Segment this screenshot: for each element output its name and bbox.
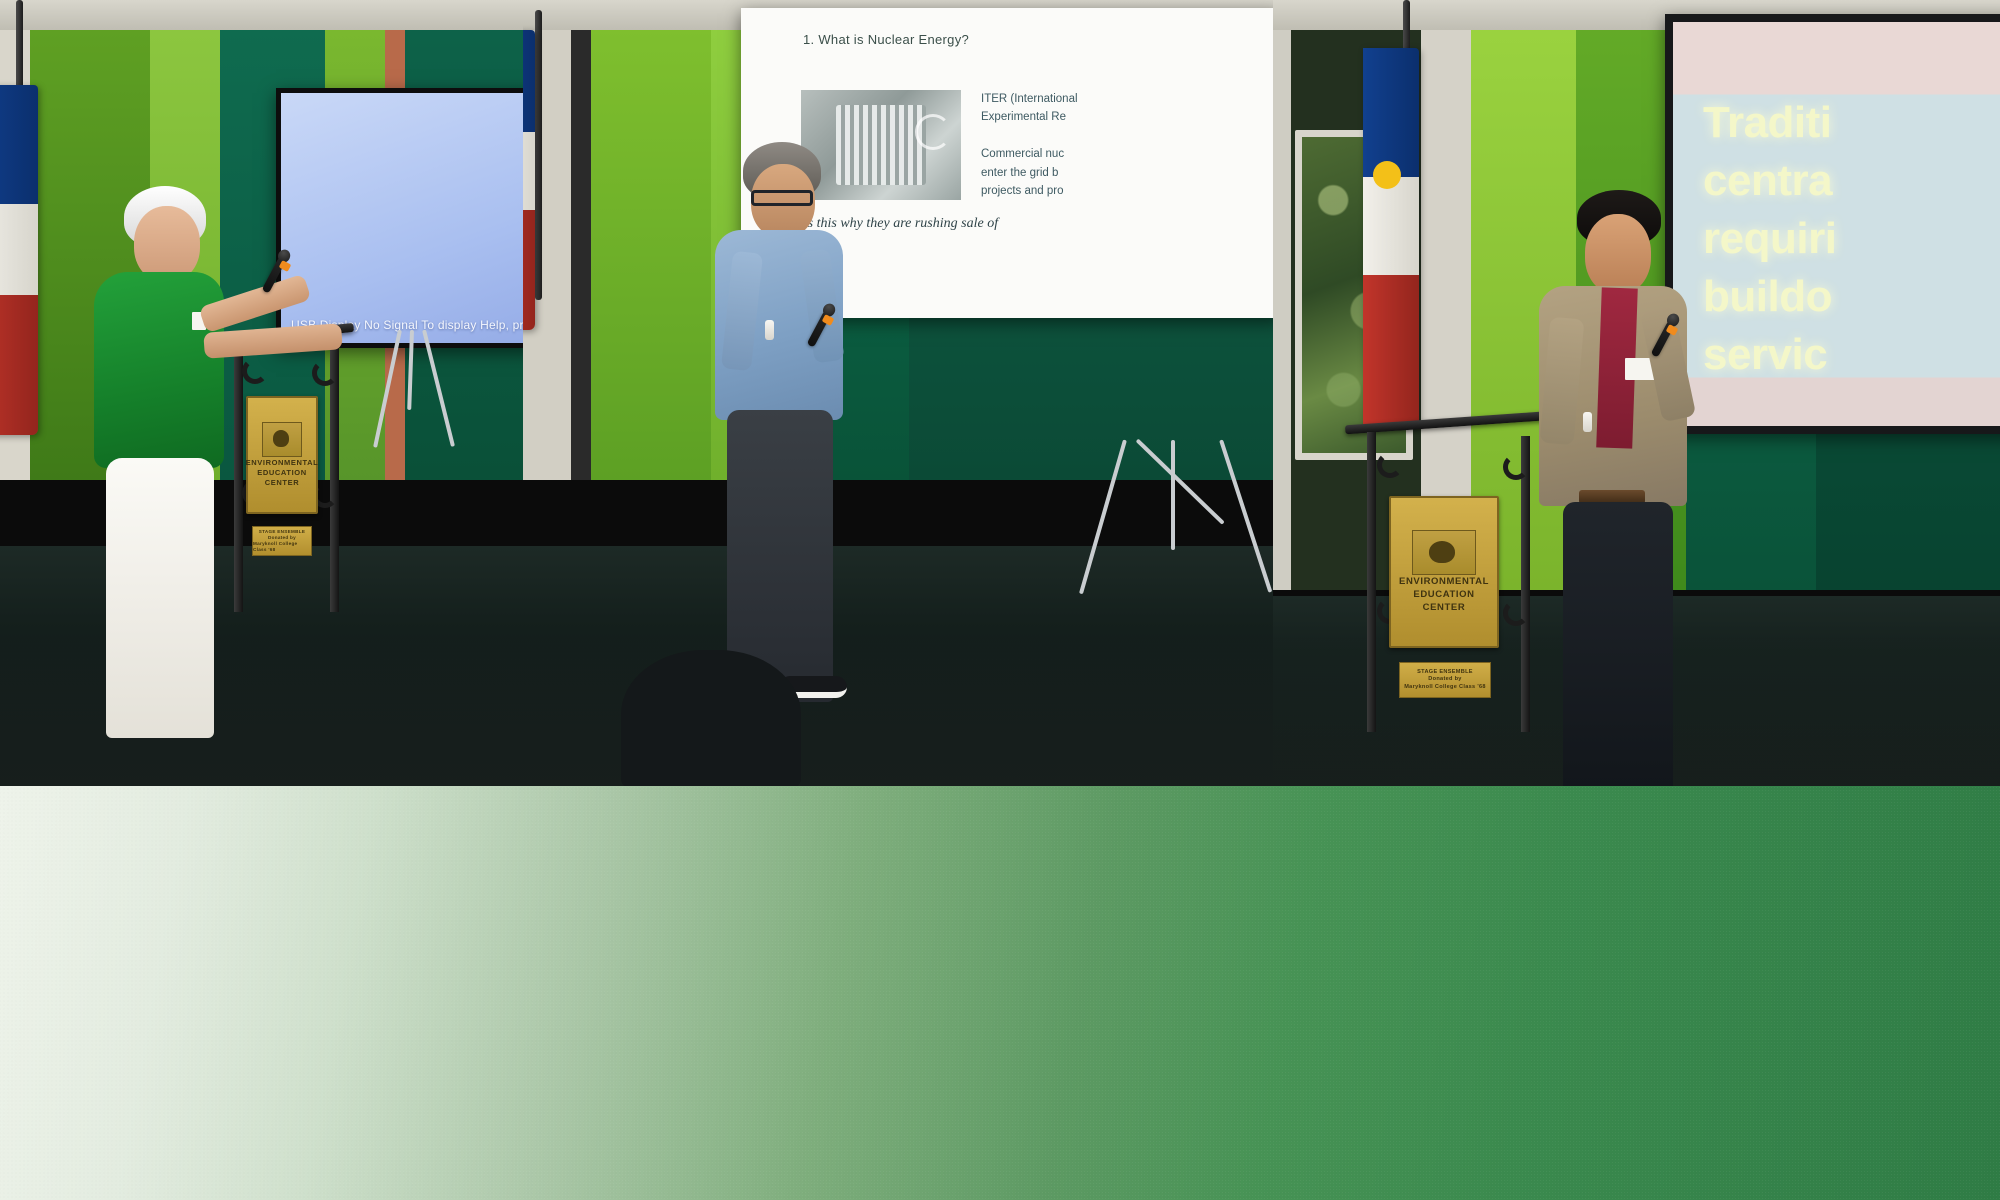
wall-stripe: [571, 30, 591, 480]
wall-stripe: [1273, 30, 1291, 590]
slide-text: Traditi centra requiri buildo servic: [1703, 94, 2000, 384]
plaque-line-1: ENVIRONMENTAL: [246, 458, 319, 467]
projector-screen-1: USB Display No Signal To display Help, p…: [276, 88, 523, 348]
wall-stripe: [591, 30, 711, 480]
podium-plaque: ENVIRONMENTAL EDUCATION CENTER: [246, 396, 318, 514]
video-strip: USB Display No Signal To display Help, p…: [0, 0, 2000, 786]
plaque-emblem: [262, 422, 303, 456]
video-panel-1[interactable]: USB Display No Signal To display Help, p…: [0, 0, 523, 786]
plaque-line-1: ENVIRONMENTAL: [1399, 576, 1489, 588]
event-banner: GREEN CONVERGENCE For safe food, healthy…: [0, 786, 2000, 1200]
stage-floor: [0, 546, 523, 786]
video-panel-2[interactable]: 1. What is Nuclear Energy? ITER (Interna…: [523, 0, 1273, 786]
slide-footer: Is this why they are rushing sale of: [803, 216, 998, 232]
poster-screenshot: USB Display No Signal To display Help, p…: [0, 0, 2000, 1200]
eyeglasses: [751, 190, 813, 206]
slide-body: ITER (International Experimental Re Comm…: [981, 90, 1273, 200]
plaque-line-2: EDUCATION: [257, 468, 306, 477]
podium-plaque: ENVIRONMENTAL EDUCATION CENTER: [1389, 496, 1499, 648]
slide-title: 1. What is Nuclear Energy?: [803, 32, 969, 47]
plaque-line-3: CENTER: [265, 478, 299, 487]
video-panel-3[interactable]: Traditi centra requiri buildo servic ENV…: [1273, 0, 2000, 786]
sub-plaque-line-1: STAGE ENSEMBLE: [1417, 669, 1473, 676]
plaque-line-3: CENTER: [1423, 602, 1466, 614]
podium-sub-plaque: STAGE ENSEMBLE Donated by Maryknoll Coll…: [252, 526, 312, 556]
plaque-line-2: EDUCATION: [1413, 589, 1474, 601]
banner-texture: [0, 786, 2000, 1200]
projector-screen-3: Traditi centra requiri buildo servic: [1665, 14, 2000, 434]
slide-reactor-image: [801, 90, 961, 200]
sub-plaque-line-3: Maryknoll College Class '68: [253, 541, 311, 553]
podium-sub-plaque: STAGE ENSEMBLE Donated by Maryknoll Coll…: [1399, 662, 1491, 698]
floor-reflection: [0, 636, 523, 786]
sub-plaque-line-2: Donated by: [1428, 676, 1461, 683]
sub-plaque-line-3: Maryknoll College Class '68: [1404, 684, 1486, 691]
plaque-emblem: [1412, 530, 1476, 574]
chair: [621, 650, 801, 786]
